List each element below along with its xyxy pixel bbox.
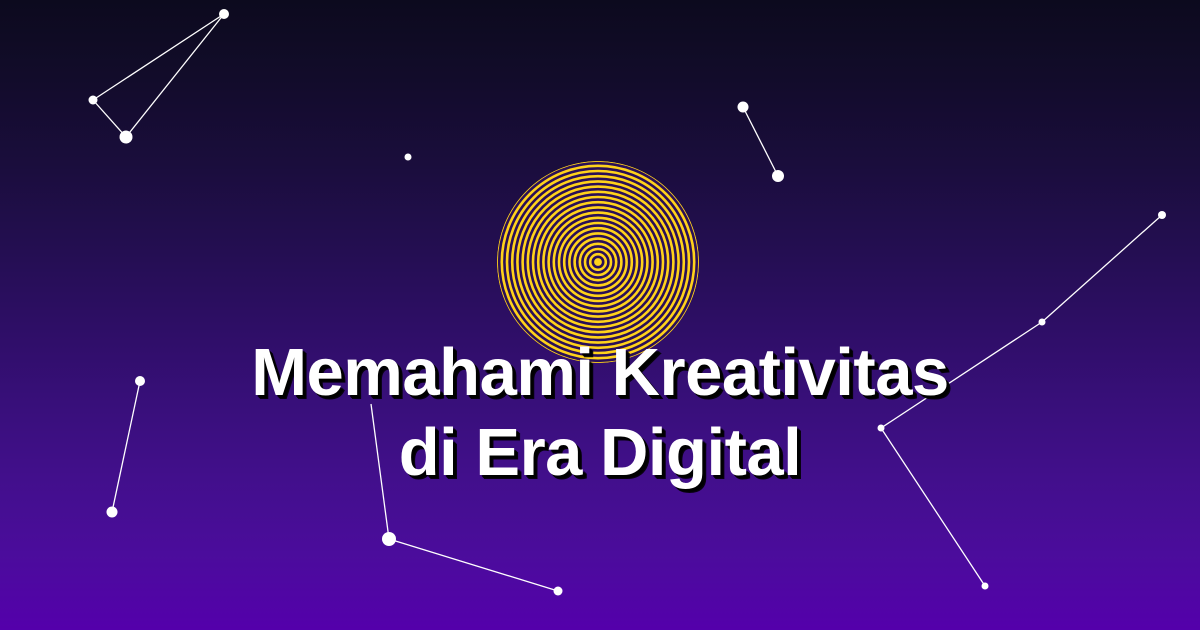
star-dot [554,587,563,596]
constellation-lone-star-top-center [405,154,412,161]
constellation-pair-top-right [738,102,785,183]
star-dot [219,9,229,19]
constellation-triangle-top-left [89,9,230,144]
star-dot [405,154,412,161]
constellation-line [389,539,558,591]
constellation-line [1042,215,1162,322]
star-dot [1039,319,1046,326]
star-dot [382,532,396,546]
constellation-line [126,14,224,137]
constellation-line [93,14,224,100]
star-dot [1158,211,1166,219]
page-title: Memahami Kreativitas di Era Digital [0,333,1200,493]
star-dot [772,170,784,182]
constellation-line [93,100,126,137]
star-dot [89,96,98,105]
title-line-1: Memahami Kreativitas [0,333,1200,413]
constellation-line [743,107,778,176]
title-line-2: di Era Digital [0,413,1200,493]
share-card-canvas: Memahami Kreativitas di Era Digital [0,0,1200,630]
star-dot [120,131,133,144]
star-dot [107,507,118,518]
star-dot [738,102,749,113]
star-dot [982,583,989,590]
